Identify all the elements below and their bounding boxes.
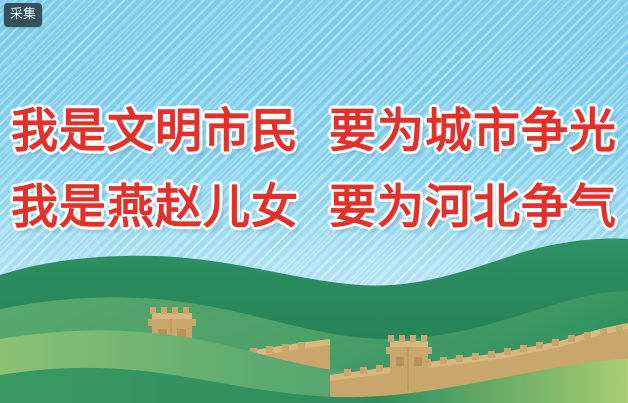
slogan-line-2: 我是燕赵儿女要为河北争气 — [0, 170, 628, 246]
poster-canvas: 我是文明市民要为城市争光 我是燕赵儿女要为河北争气 采集 — [0, 0, 628, 403]
capture-button[interactable]: 采集 — [4, 3, 42, 27]
hills-and-great-wall-illustration — [0, 223, 628, 403]
slogan-text-block: 我是文明市民要为城市争光 我是燕赵儿女要为河北争气 — [0, 94, 628, 246]
slogan-line-1-left: 我是文明市民 — [11, 94, 299, 170]
slogan-line-2-left: 我是燕赵儿女 — [11, 170, 299, 246]
slogan-line-1: 我是文明市民要为城市争光 — [0, 94, 628, 170]
slogan-line-2-right: 要为河北争气 — [329, 170, 617, 246]
slogan-line-1-right: 要为城市争光 — [329, 94, 617, 170]
